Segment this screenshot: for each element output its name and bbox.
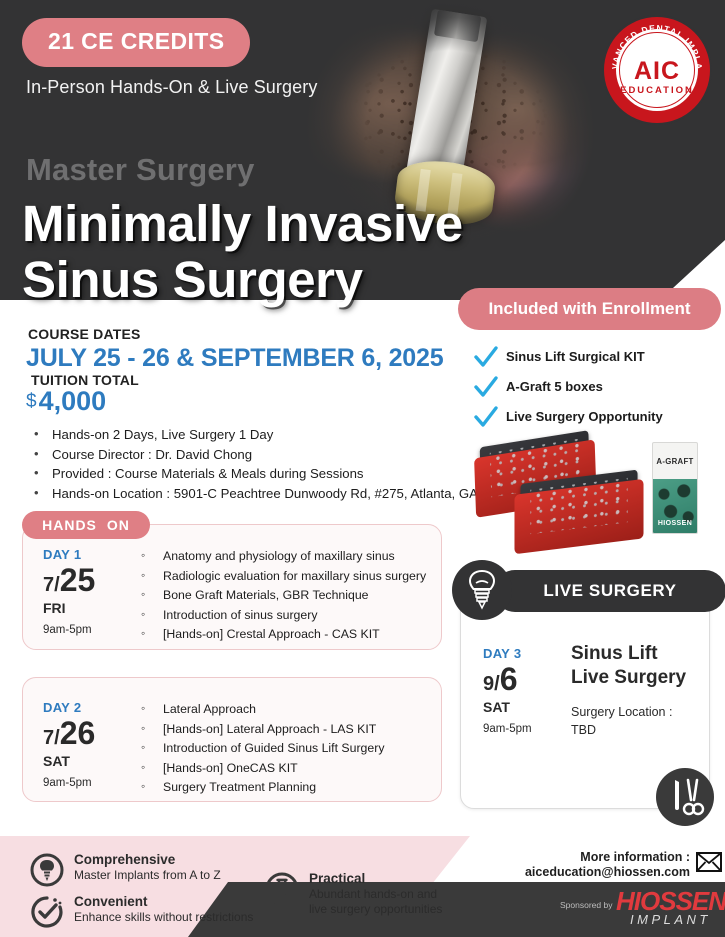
- contact-email[interactable]: aiceducation@hiossen.com: [430, 865, 690, 880]
- feature-title: Comprehensive: [74, 852, 175, 867]
- live-surgery-location-value: TBD: [571, 721, 672, 739]
- day2-dow: SAT: [43, 754, 141, 769]
- agraft-box-brand: HIOSSEN: [653, 520, 697, 527]
- list-item: Sinus Lift Surgical KIT: [470, 342, 720, 372]
- list-item: Surgery Treatment Planning: [135, 778, 435, 798]
- header-subtitle: In-Person Hands-On & Live Surgery: [26, 77, 317, 98]
- hands-on-tab: HANDSON: [22, 511, 150, 539]
- check-circle-icon: [30, 895, 64, 929]
- feature-subtitle-line1: Abundant hands-on and: [309, 887, 442, 902]
- implant-icon: [452, 560, 512, 620]
- day1-dow: FRI: [43, 601, 141, 616]
- list-item: Provided : Course Materials & Meals duri…: [30, 464, 500, 484]
- day3-daynum: 6: [500, 661, 518, 697]
- hands-on-tab-word2: ON: [107, 517, 130, 533]
- check-icon: [474, 406, 498, 428]
- agraft-product-box: A-GRAFT HIOSSEN: [652, 442, 698, 534]
- feature-title: Convenient: [74, 894, 148, 909]
- list-item: Hands-on 2 Days, Live Surgery 1 Day: [30, 425, 500, 445]
- included-item-label: Sinus Lift Surgical KIT: [506, 349, 645, 364]
- course-bullet-list: Hands-on 2 Days, Live Surgery 1 Day Cour…: [30, 425, 500, 504]
- kit-instruments: [530, 478, 627, 534]
- more-information-label: More information :: [430, 850, 690, 865]
- live-surgery-location: Surgery Location : TBD: [571, 703, 672, 739]
- day3-date: 9/6: [483, 663, 569, 700]
- header-kicker: Master Surgery: [26, 152, 255, 188]
- list-item: Anatomy and physiology of maxillary sinu…: [135, 547, 435, 567]
- flask-icon: [265, 872, 299, 906]
- day2-datebox: DAY 2 7/26 SAT 9am-5pm: [43, 700, 141, 789]
- list-item: Lateral Approach: [135, 700, 435, 720]
- aic-logo-inner-disc: AIC EDUCATION: [616, 29, 698, 111]
- live-surgery-title: Sinus Lift Live Surgery: [571, 642, 686, 690]
- day1-date: 7/25: [43, 564, 141, 601]
- feature-subtitle: Master Implants from A to Z: [74, 868, 221, 883]
- day1-label: DAY 1: [43, 547, 141, 562]
- check-icon: [474, 346, 498, 368]
- hands-on-day2-card: DAY 2 7/26 SAT 9am-5pm Lateral Approach …: [22, 677, 442, 802]
- page-title-line2: Sinus Surgery: [22, 250, 363, 309]
- list-item: [Hands-on] Lateral Approach - LAS KIT: [135, 720, 435, 740]
- day2-topic-list: Lateral Approach [Hands-on] Lateral Appr…: [135, 700, 435, 798]
- day1-topic-list: Anatomy and physiology of maxillary sinu…: [135, 547, 435, 645]
- page-title-line1: Minimally Invasive: [22, 194, 463, 253]
- sponsored-by-label: Sponsored by: [560, 900, 612, 910]
- check-icon: [474, 376, 498, 398]
- day3-month: 9/: [483, 673, 500, 695]
- implant-icon-circle: [452, 560, 512, 620]
- live-surgery-location-label: Surgery Location :: [571, 703, 672, 721]
- list-item: Live Surgery Opportunity: [470, 402, 720, 432]
- hiossen-logo-sub: IMPLANT: [630, 912, 711, 927]
- included-item-label: A-Graft 5 boxes: [506, 379, 603, 394]
- included-item-label: Live Surgery Opportunity: [506, 409, 663, 424]
- day2-label: DAY 2: [43, 700, 141, 715]
- surgical-kit-photo: [472, 435, 657, 540]
- day2-date: 7/26: [43, 717, 141, 754]
- day2-month: 7/: [43, 727, 60, 749]
- surgical-tools-icon-circle: [656, 768, 714, 826]
- implant-icon: [30, 853, 64, 887]
- day2-time: 9am-5pm: [43, 777, 141, 789]
- tuition-amount: 4,000: [39, 386, 107, 416]
- feature-subtitle-line2: live surgery opportunities: [309, 902, 442, 917]
- feature-title: Practical: [309, 871, 365, 886]
- tuition-value: $4,000: [26, 386, 106, 417]
- day3-label: DAY 3: [483, 646, 569, 661]
- hands-on-day1-card: DAY 1 7/25 FRI 9am-5pm Anatomy and physi…: [22, 524, 442, 650]
- live-surgery-heading: LIVE SURGERY: [494, 570, 725, 612]
- aic-logo-main-text: AIC: [616, 59, 698, 84]
- list-item: Radiologic evaluation for maxillary sinu…: [135, 567, 435, 587]
- hands-on-tab-word1: HANDS: [42, 517, 97, 533]
- day3-dow: SAT: [483, 700, 569, 715]
- course-dates-value: JULY 25 - 26 & SEPTEMBER 6, 2025: [26, 344, 443, 373]
- list-item: Course Director : Dr. David Chong: [30, 445, 500, 465]
- day1-datebox: DAY 1 7/25 FRI 9am-5pm: [43, 547, 141, 636]
- day1-time: 9am-5pm: [43, 624, 141, 636]
- list-item: Hands-on Location : 5901-C Peachtree Dun…: [30, 484, 500, 504]
- live-surgery-title-line1: Sinus Lift: [571, 642, 686, 666]
- scalpel-scissors-icon: [656, 768, 714, 826]
- day1-month: 7/: [43, 574, 60, 596]
- aic-logo-sub-text: EDUCATION: [616, 85, 698, 96]
- course-dates-label: COURSE DATES: [28, 326, 141, 342]
- ce-credits-badge: 21 CE CREDITS: [22, 18, 250, 67]
- tuition-currency: $: [26, 391, 37, 412]
- envelope-icon: [696, 852, 722, 872]
- list-item: Introduction of sinus surgery: [135, 606, 435, 626]
- day1-daynum: 25: [60, 562, 96, 598]
- included-with-enrollment-heading: Included with Enrollment: [458, 288, 721, 330]
- live-surgery-title-line2: Live Surgery: [571, 666, 686, 690]
- feature-subtitle: Enhance skills without restrictions: [74, 910, 253, 925]
- list-item: Bone Graft Materials, GBR Technique: [135, 586, 435, 606]
- included-items-list: Sinus Lift Surgical KIT A-Graft 5 boxes …: [470, 342, 720, 432]
- day3-time: 9am-5pm: [483, 723, 569, 735]
- list-item: A-Graft 5 boxes: [470, 372, 720, 402]
- feature-subtitle: Abundant hands-on and live surgery oppor…: [309, 887, 442, 916]
- aic-logo: ADVANCED DENTAL IMPLANT RESEARCH & EDUCA…: [604, 17, 710, 123]
- agraft-box-title: A-GRAFT: [653, 443, 697, 466]
- list-item: [Hands-on] OneCAS KIT: [135, 759, 435, 779]
- day3-datebox: DAY 3 9/6 SAT 9am-5pm: [483, 646, 569, 735]
- day2-daynum: 26: [60, 715, 96, 751]
- more-information: More information : aiceducation@hiossen.…: [430, 850, 690, 880]
- list-item: Introduction of Guided Sinus Lift Surger…: [135, 739, 435, 759]
- list-item: [Hands-on] Crestal Approach - CAS KIT: [135, 625, 435, 645]
